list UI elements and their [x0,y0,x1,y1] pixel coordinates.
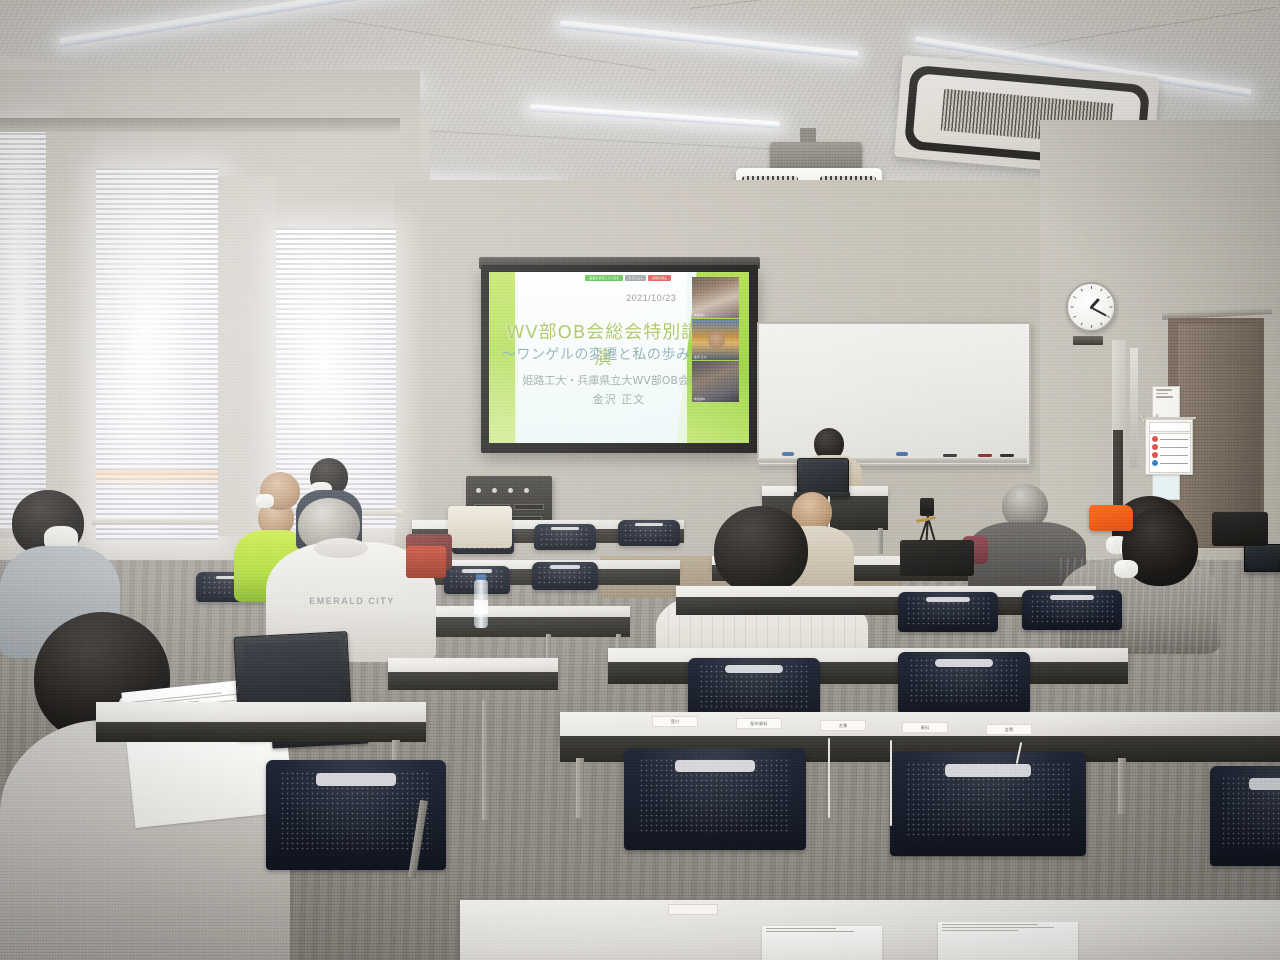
water-bottle-label [474,600,488,614]
zoom-options-button[interactable]: オプション [625,275,646,281]
name-card [668,904,718,915]
window-header-rail [0,118,400,132]
whiteboard-eraser[interactable] [1000,454,1014,457]
whiteboard-magnet[interactable] [782,452,794,456]
name-card: 受付 [652,716,698,727]
tote-bag[interactable] [448,506,512,548]
window-left-2[interactable] [96,168,218,540]
desk-apron [388,672,558,690]
desk-leg [878,528,883,554]
prohibition-notice [1137,415,1139,417]
wall-nameplate [1073,336,1103,345]
name-card: 配布資料 [736,718,782,729]
window-left-1[interactable] [0,128,46,528]
slide-subtitle: 〜ワンゲルの変遷と私の歩み〜 [499,344,707,364]
name-card: 名簿 [820,720,866,731]
wall-clock [1066,282,1116,332]
presenter-laptop[interactable] [797,458,847,494]
tote-bag-secondary[interactable] [406,546,446,578]
hood-collar [314,538,368,558]
handbag[interactable] [900,540,974,576]
window-glare [0,128,46,528]
desk-apron [608,662,1128,684]
face-mask [1114,560,1138,578]
whiteboard-magnet[interactable] [896,452,908,456]
name-card: 資料 [902,722,948,733]
projection-screen: 画面を共有しています オプション 共有の停止 2021/10/23 WV部OB会… [481,265,758,453]
slide-date: 2021/10/23 [626,293,676,303]
video-tile[interactable]: 金沢 正文 [692,319,739,360]
desk-leg [576,758,584,818]
orange-bag[interactable] [1089,505,1133,531]
desk-leg [482,700,489,820]
whiteboard-marker[interactable] [978,454,992,457]
power-cord [890,740,892,826]
video-tile[interactable]: 参加者A [692,277,739,318]
video-tile-name: 参加者A [694,313,705,317]
room-usage-notice [1145,419,1193,475]
power-cord [828,738,830,818]
clock-center-pin [1090,306,1093,309]
backpack[interactable] [1212,512,1268,546]
video-face [708,331,725,349]
chair-empty[interactable] [1210,766,1280,866]
rules-notice-board [1142,420,1144,422]
hoodie-text: EMERALD CITY [284,596,420,606]
chair-empty[interactable] [624,748,806,850]
zoom-sharing-label: 画面を共有しています [585,275,623,281]
whiteboard [757,322,1031,466]
whiteboard-marker[interactable] [943,454,957,457]
zoom-share-toolbar[interactable]: 画面を共有しています オプション 共有の停止 [585,274,671,282]
chair-empty[interactable] [532,562,598,590]
chair-empty[interactable] [534,524,596,550]
desk-apron [96,722,426,742]
chair-empty[interactable] [898,652,1030,714]
chair-empty[interactable] [688,658,820,720]
zoom-video-thumbnails: 参加者A 金沢 正文 参加者B [692,277,739,402]
wall-light-strip [1130,348,1138,468]
desk-foreground-left [96,702,426,724]
video-tile-name: 参加者B [694,397,705,401]
name-card: 会費 [986,724,1032,735]
zoom-stop-share-button[interactable]: 共有の停止 [648,275,671,281]
video-tile[interactable]: 参加者B [692,361,739,402]
handout-paper[interactable] [938,922,1078,960]
attendee-tablet[interactable] [1244,544,1280,570]
head [714,506,808,594]
chair-empty[interactable] [898,592,998,632]
notice-board-upper [1156,414,1158,416]
window-pier [46,124,96,542]
desk-leg [1118,758,1126,814]
chair-empty[interactable] [890,752,1086,856]
video-tile-name: 金沢 正文 [694,355,707,359]
slide-affiliation: 姫路工大・兵庫県立大WV部OB会長 [505,372,718,388]
lecture-room-photo: EPSON 画面を共有しています オプション 共有の [0,0,1280,960]
clock-minute-hand [1091,306,1107,316]
handout-paper[interactable] [762,926,882,960]
projected-slide: 画面を共有しています オプション 共有の停止 2021/10/23 WV部OB会… [489,272,749,443]
